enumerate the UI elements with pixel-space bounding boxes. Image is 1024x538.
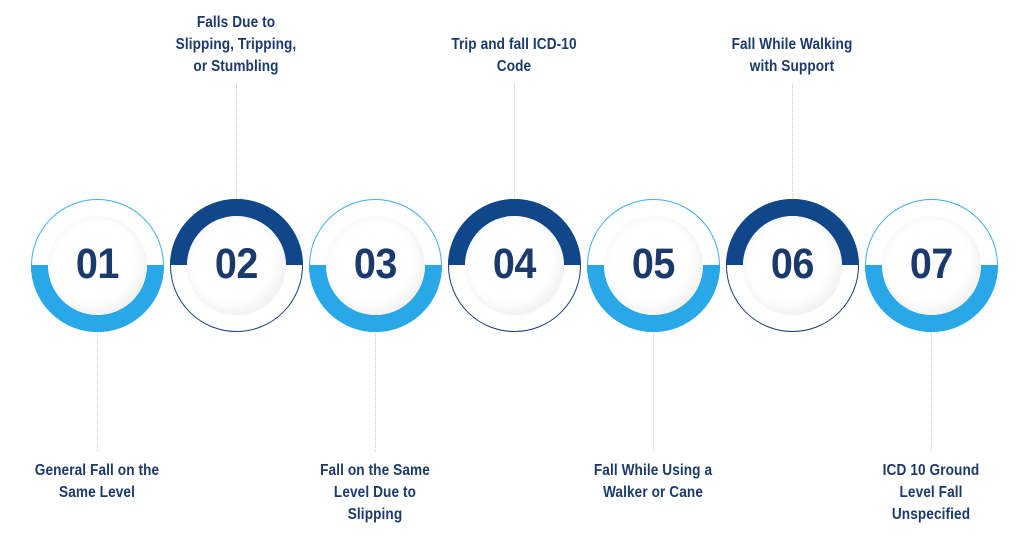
step-number-03: 03 [353,243,396,286]
ring-inner-disc: 03 [326,216,425,315]
step-circle-03[interactable]: 03 [309,199,442,332]
step-label-02: Falls Due to Slipping, Tripping, or Stum… [135,12,337,78]
step-number-01: 01 [75,243,118,286]
ring-inner-disc: 05 [604,216,703,315]
step-circle-07[interactable]: 07 [865,199,998,332]
step-label-05: Fall While Using a Walker or Cane [552,460,754,504]
step-label-07: ICD 10 Ground Level Fall Unspecified [830,460,1024,526]
connector-line-07 [931,329,932,453]
step-number-06: 06 [770,243,813,286]
step-circle-01[interactable]: 01 [31,199,164,332]
connector-line-01 [97,329,98,453]
step-label-01: General Fall on the Same Level [0,460,198,504]
ring-inner-disc: 07 [882,216,981,315]
ring-inner-disc: 01 [48,216,147,315]
step-label-03: Fall on the Same Level Due to Slipping [274,460,476,526]
step-number-04: 04 [492,243,535,286]
step-label-06: Fall While Walking with Support [691,34,893,78]
infographic-root: General Fall on the Same Level01Falls Du… [0,0,1024,538]
step-circle-05[interactable]: 05 [587,199,720,332]
step-circle-02[interactable]: 02 [170,199,303,332]
step-number-02: 02 [214,243,257,286]
step-label-04: Trip and fall ICD-10 Code [413,34,615,78]
step-circle-06[interactable]: 06 [726,199,859,332]
connector-line-04 [514,84,515,202]
connector-line-03 [375,329,376,453]
connector-line-05 [653,329,654,453]
ring-inner-disc: 06 [743,216,842,315]
step-number-07: 07 [909,243,952,286]
ring-inner-disc: 04 [465,216,564,315]
step-circle-04[interactable]: 04 [448,199,581,332]
step-number-05: 05 [631,243,674,286]
connector-line-02 [236,84,237,202]
connector-line-06 [792,84,793,202]
ring-inner-disc: 02 [187,216,286,315]
